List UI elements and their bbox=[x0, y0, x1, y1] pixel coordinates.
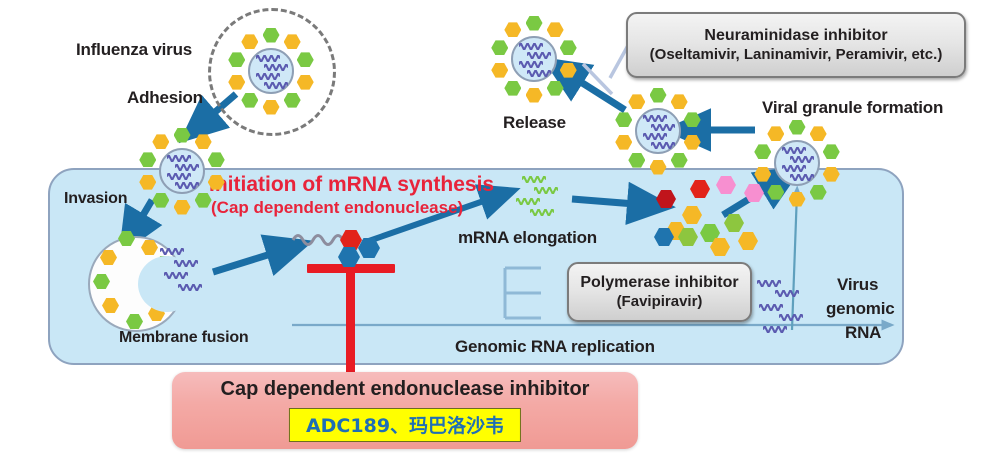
spike-neuraminidase bbox=[767, 126, 784, 141]
spike-neuraminidase bbox=[152, 134, 169, 149]
spike-hemagglutinin bbox=[139, 152, 156, 167]
granule-green bbox=[724, 214, 744, 232]
drug-highlight-text: ADC189、玛巴洛沙韦 bbox=[306, 415, 504, 437]
spike-hemagglutinin bbox=[526, 16, 543, 31]
polymerase-inhibitor-drug: (Favipiravir) bbox=[617, 293, 703, 311]
spike-neuraminidase bbox=[789, 192, 806, 207]
spike-hemagglutinin bbox=[810, 185, 827, 200]
spike-hemagglutinin bbox=[241, 93, 258, 108]
spike-neuraminidase bbox=[263, 100, 280, 115]
spike-hemagglutinin bbox=[263, 28, 280, 43]
spike-hemagglutinin bbox=[754, 144, 771, 159]
virus-particle-release bbox=[489, 14, 579, 104]
granule-yellow bbox=[682, 206, 702, 224]
spike-neuraminidase bbox=[504, 22, 521, 37]
spike-hemagglutinin bbox=[152, 193, 169, 208]
polymerase-inhibitor-box[interactable]: Polymerase inhibitor (Favipiravir) bbox=[567, 262, 752, 322]
heading-initiation-mrna-synthesis: Initiation of mRNA synthesis bbox=[209, 173, 494, 197]
spike-neuraminidase bbox=[684, 135, 701, 150]
label-viral-granule-formation: Viral granule formation bbox=[762, 98, 943, 118]
label-adhesion: Adhesion bbox=[127, 88, 203, 108]
spike-hemagglutinin bbox=[208, 152, 225, 167]
spike-hemagglutinin bbox=[650, 88, 667, 103]
neuraminidase-inhibitor-drugs: (Oseltamivir, Laninamivir, Peramivir, et… bbox=[650, 46, 943, 64]
virus-particle-invasion bbox=[137, 126, 227, 216]
spike-hemagglutinin bbox=[547, 81, 564, 96]
viral-granule-cluster bbox=[648, 172, 758, 252]
cap-endonuclease-inhibitor-box[interactable]: Cap dependent endonuclease inhibitor ADC… bbox=[172, 372, 638, 449]
spike-neuraminidase bbox=[547, 22, 564, 37]
spike-neuraminidase bbox=[491, 63, 508, 78]
granule-dark-red bbox=[656, 190, 676, 208]
spike-neuraminidase bbox=[671, 94, 688, 109]
granule-red bbox=[690, 180, 710, 198]
spike-neuraminidase bbox=[284, 34, 301, 49]
spike-hemagglutinin bbox=[195, 193, 212, 208]
spike-neuraminidase bbox=[823, 167, 840, 182]
spike-neuraminidase bbox=[297, 75, 314, 90]
virus-particle-budding bbox=[613, 86, 703, 176]
spike-neuraminidase bbox=[628, 94, 645, 109]
spike-neuraminidase bbox=[615, 135, 632, 150]
cap-endonuclease-inhibitor-title: Cap dependent endonuclease inhibitor bbox=[172, 378, 638, 401]
label-virus-genomic-rna-line1: Virus bbox=[837, 275, 878, 295]
spike-neuraminidase bbox=[139, 175, 156, 190]
spike-neuraminidase bbox=[208, 175, 225, 190]
spike-hemagglutinin bbox=[504, 81, 521, 96]
viral-rna-cytoplasm bbox=[160, 248, 240, 308]
spike-neuraminidase bbox=[560, 63, 577, 78]
granule-pink bbox=[716, 176, 736, 194]
neuraminidase-inhibitor-box[interactable]: Neuraminidase inhibitor (Oseltamivir, La… bbox=[626, 12, 966, 78]
viral-rna-pool bbox=[757, 280, 837, 342]
drug-highlight-badge: ADC189、玛巴洛沙韦 bbox=[289, 408, 521, 442]
label-virus-genomic-rna-line3: RNA bbox=[845, 323, 881, 343]
spike-hemagglutinin bbox=[284, 93, 301, 108]
spike-hemagglutinin bbox=[767, 185, 784, 200]
spike-neuraminidase bbox=[228, 75, 245, 90]
spike-hemagglutinin bbox=[628, 153, 645, 168]
spike-hemagglutinin bbox=[491, 40, 508, 55]
virus-particle-adhesion bbox=[226, 26, 316, 116]
spike-neuraminidase bbox=[810, 126, 827, 141]
label-invasion: Invasion bbox=[64, 190, 127, 208]
endonuclease-inhibitor-stem bbox=[346, 264, 355, 385]
polymerase-inhibitor-title: Polymerase inhibitor bbox=[580, 274, 738, 293]
mrna-strands bbox=[512, 176, 582, 232]
spike-hemagglutinin bbox=[671, 153, 688, 168]
spike-hemagglutinin bbox=[823, 144, 840, 159]
spike-hemagglutinin bbox=[228, 52, 245, 67]
diagram-canvas: Influenza virus Adhesion Invasion Membra… bbox=[0, 0, 983, 474]
label-influenza-virus: Influenza virus bbox=[76, 40, 192, 60]
spike-hemagglutinin bbox=[297, 52, 314, 67]
spike-hemagglutinin bbox=[789, 120, 806, 135]
virus-particle-assembly bbox=[752, 118, 842, 208]
label-genomic-rna-replication: Genomic RNA replication bbox=[455, 337, 655, 357]
spike-neuraminidase bbox=[195, 134, 212, 149]
spike-hemagglutinin bbox=[560, 40, 577, 55]
spike-neuraminidase bbox=[174, 200, 191, 215]
spike-hemagglutinin bbox=[174, 128, 191, 143]
granule-amber bbox=[738, 232, 758, 250]
heading-cap-dependent-endonuclease: (Cap dependent endonuclease) bbox=[211, 198, 463, 218]
spike-hemagglutinin bbox=[684, 112, 701, 127]
spike-neuraminidase bbox=[526, 88, 543, 103]
spike-neuraminidase bbox=[241, 34, 258, 49]
label-release: Release bbox=[503, 113, 566, 133]
neuraminidase-inhibitor-title: Neuraminidase inhibitor bbox=[704, 27, 887, 46]
spike-hemagglutinin bbox=[615, 112, 632, 127]
